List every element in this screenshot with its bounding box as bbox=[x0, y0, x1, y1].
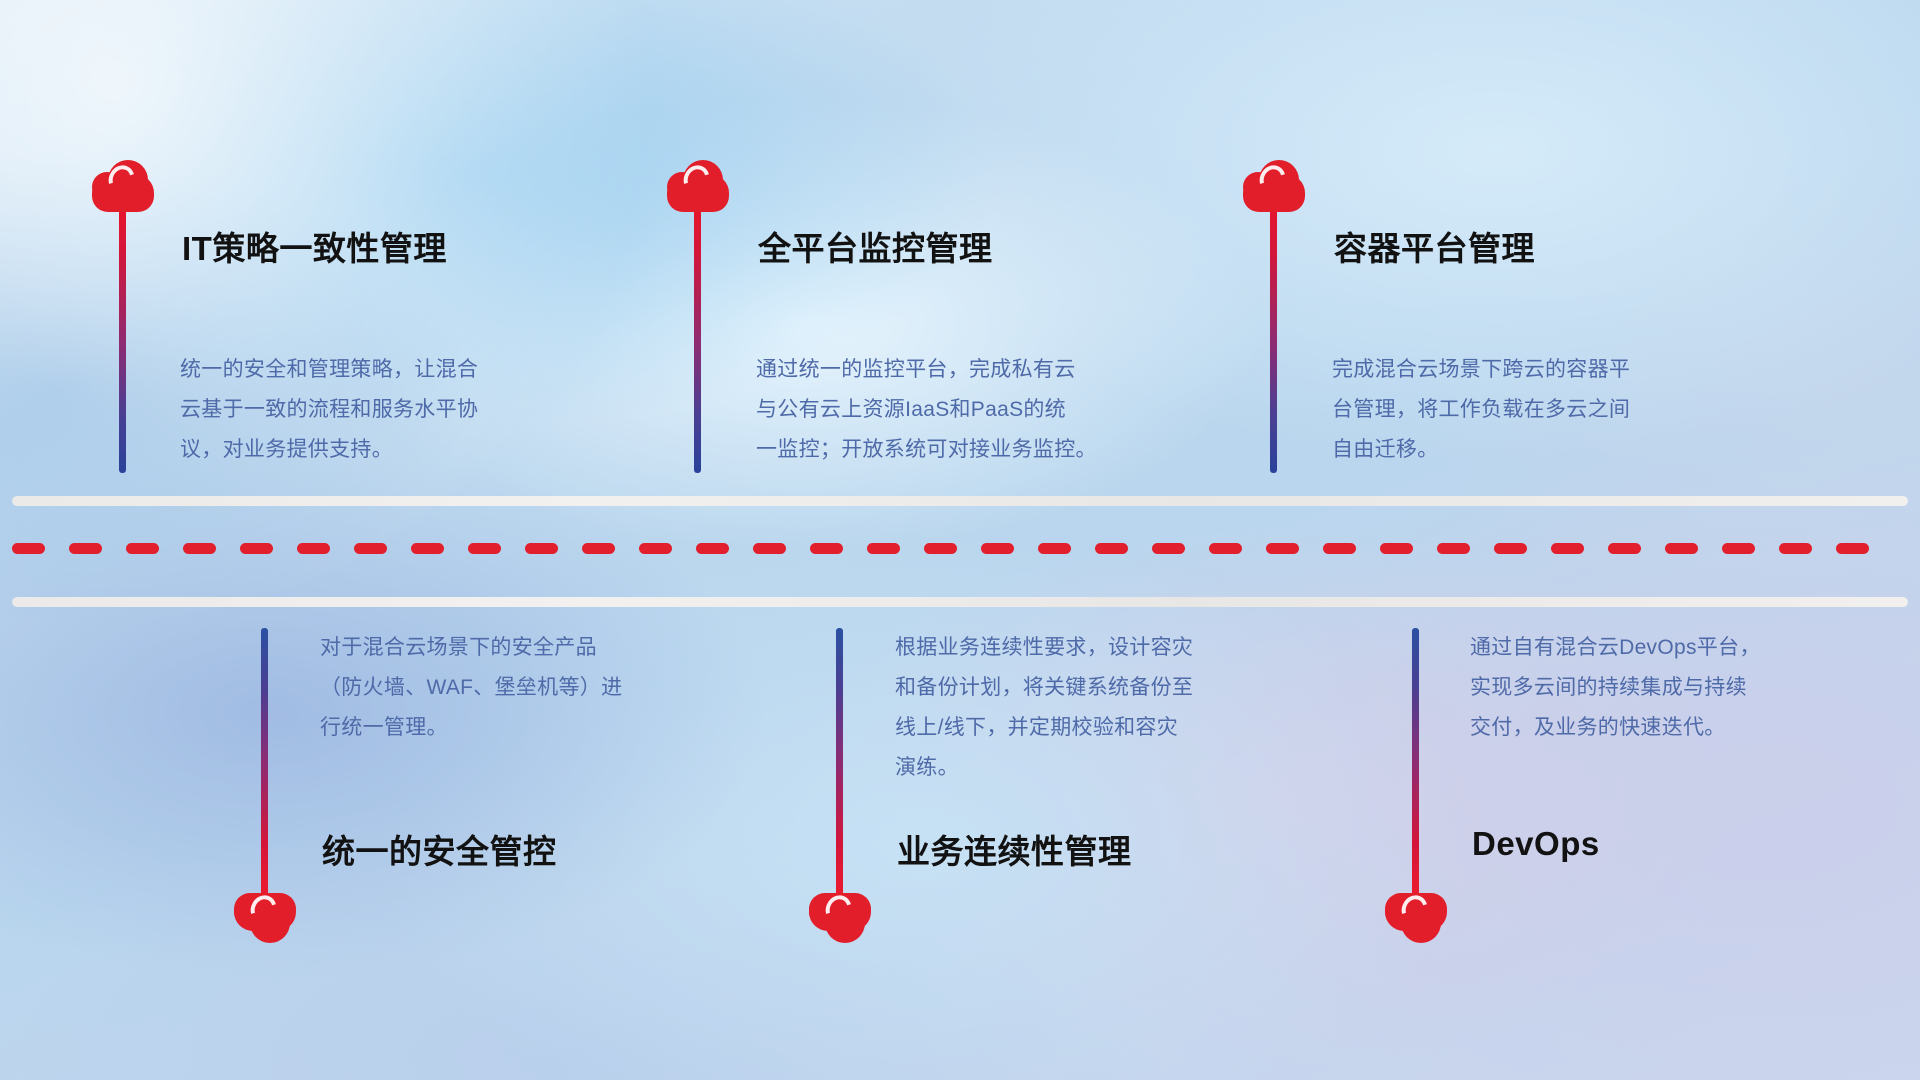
divider-dash bbox=[1038, 543, 1071, 554]
divider-dashed-line bbox=[12, 543, 1912, 554]
heading-bottom-2: 业务连续性管理 bbox=[897, 825, 1132, 873]
cloud-icon-bottom-3 bbox=[1385, 893, 1447, 945]
divider-dash bbox=[867, 543, 900, 554]
divider-dash bbox=[297, 543, 330, 554]
divider-dash bbox=[696, 543, 729, 554]
divider-dash bbox=[1323, 543, 1356, 554]
divider-dash bbox=[1152, 543, 1185, 554]
divider-dash bbox=[1095, 543, 1128, 554]
divider-dash bbox=[1608, 543, 1641, 554]
cloud-icon-top-3 bbox=[1243, 160, 1305, 212]
divider-dash bbox=[1437, 543, 1470, 554]
divider-dash bbox=[411, 543, 444, 554]
body-text-top-1: 统一的安全和管理策略，让混合 云基于一致的流程和服务水平协 议，对业务提供支持。 bbox=[180, 350, 620, 470]
cloud-icon-top-1 bbox=[92, 160, 154, 212]
divider-dash bbox=[183, 543, 216, 554]
connector-stem-bottom-1 bbox=[261, 628, 268, 896]
heading-bottom-3: DevOps bbox=[1472, 825, 1600, 863]
body-text-top-2: 通过统一的监控平台，完成私有云 与公有云上资源IaaS和PaaS的统 一监控；开… bbox=[756, 350, 1226, 470]
divider-rail-lower bbox=[12, 597, 1908, 607]
heading-top-3: 容器平台管理 bbox=[1334, 222, 1535, 270]
divider-dash bbox=[810, 543, 843, 554]
divider-dash bbox=[1380, 543, 1413, 554]
divider-dash bbox=[1779, 543, 1812, 554]
divider-dash bbox=[1266, 543, 1299, 554]
connector-stem-top-3 bbox=[1270, 205, 1277, 473]
connector-stem-top-1 bbox=[119, 205, 126, 473]
connector-stem-bottom-2 bbox=[836, 628, 843, 896]
divider-dash bbox=[468, 543, 501, 554]
divider-dash bbox=[126, 543, 159, 554]
divider-dash bbox=[1209, 543, 1242, 554]
cloud-icon-top-2 bbox=[667, 160, 729, 212]
divider-dash bbox=[1836, 543, 1869, 554]
heading-top-2: 全平台监控管理 bbox=[758, 222, 993, 270]
divider-dash bbox=[639, 543, 672, 554]
connector-stem-top-2 bbox=[694, 205, 701, 473]
divider-dash bbox=[69, 543, 102, 554]
body-text-bottom-3: 通过自有混合云DevOps平台， 实现多云间的持续集成与持续 交付，及业务的快速… bbox=[1470, 628, 1910, 748]
divider-dash bbox=[582, 543, 615, 554]
divider-rail-upper bbox=[12, 496, 1908, 506]
divider-dash bbox=[924, 543, 957, 554]
body-text-bottom-1: 对于混合云场景下的安全产品 （防火墙、WAF、堡垒机等）进 行统一管理。 bbox=[320, 628, 760, 748]
divider-dash bbox=[981, 543, 1014, 554]
cloud-icon-bottom-2 bbox=[809, 893, 871, 945]
heading-top-1: IT策略一致性管理 bbox=[182, 222, 447, 270]
divider-dash bbox=[1551, 543, 1584, 554]
infographic-canvas: IT策略一致性管理 统一的安全和管理策略，让混合 云基于一致的流程和服务水平协 … bbox=[0, 0, 1920, 1080]
body-text-bottom-2: 根据业务连续性要求，设计容灾 和备份计划，将关键系统备份至 线上/线下，并定期校… bbox=[895, 628, 1335, 788]
divider-dash bbox=[354, 543, 387, 554]
divider-dash bbox=[1665, 543, 1698, 554]
divider-dash bbox=[1494, 543, 1527, 554]
cloud-icon-bottom-1 bbox=[234, 893, 296, 945]
divider-dash bbox=[1722, 543, 1755, 554]
divider-dash bbox=[753, 543, 786, 554]
divider-dash bbox=[12, 543, 45, 554]
heading-bottom-1: 统一的安全管控 bbox=[322, 825, 557, 873]
divider-dash bbox=[240, 543, 273, 554]
divider-dash bbox=[525, 543, 558, 554]
connector-stem-bottom-3 bbox=[1412, 628, 1419, 896]
body-text-top-3: 完成混合云场景下跨云的容器平 台管理，将工作负载在多云之间 自由迁移。 bbox=[1332, 350, 1782, 470]
